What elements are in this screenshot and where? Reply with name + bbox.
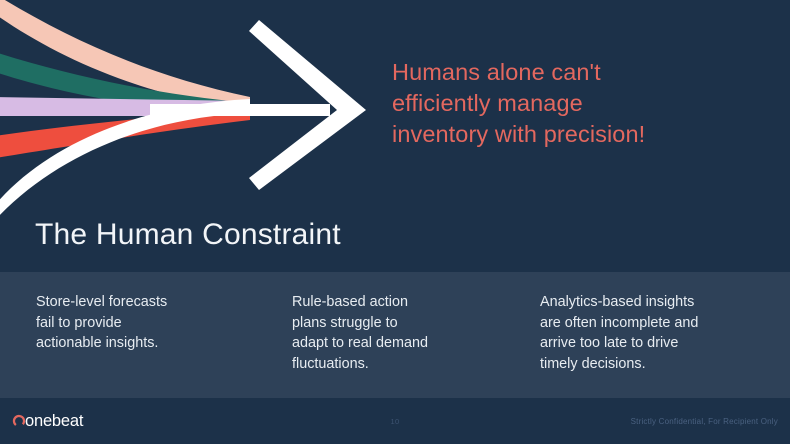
point-2-line-3: adapt to real demand <box>292 333 532 354</box>
confidentiality-note: Strictly Confidential, For Recipient Onl… <box>631 417 778 426</box>
white-ribbon-straight <box>150 104 330 116</box>
headline-line-3: inventory with precision! <box>392 119 722 150</box>
headline: Humans alone can't efficiently manage in… <box>392 57 722 150</box>
point-1-line-2: fail to provide <box>36 313 276 334</box>
point-3-line-2: are often incomplete and <box>540 313 790 334</box>
slide-footer: onebeat 10 Strictly Confidential, For Re… <box>0 398 790 444</box>
headline-line-1: Humans alone can't <box>392 57 722 88</box>
slide: Humans alone can't efficiently manage in… <box>0 0 790 444</box>
point-1-line-1: Store-level forecasts <box>36 292 276 313</box>
point-column-2: Rule-based action plans struggle to adap… <box>292 292 532 374</box>
point-3-line-1: Analytics-based insights <box>540 292 790 313</box>
point-3-line-4: timely decisions. <box>540 354 790 375</box>
page-title: The Human Constraint <box>35 216 341 254</box>
point-1-line-3: actionable insights. <box>36 333 276 354</box>
points-band: Store-level forecasts fail to provide ac… <box>0 272 790 398</box>
point-2-line-1: Rule-based action <box>292 292 532 313</box>
point-column-1: Store-level forecasts fail to provide ac… <box>36 292 276 354</box>
point-column-3: Analytics-based insights are often incom… <box>540 292 790 374</box>
point-2-line-4: fluctuations. <box>292 354 532 375</box>
headline-line-2: efficiently manage <box>392 88 722 119</box>
point-3-line-3: arrive too late to drive <box>540 333 790 354</box>
hero-graphic <box>0 0 400 215</box>
point-2-line-2: plans struggle to <box>292 313 532 334</box>
